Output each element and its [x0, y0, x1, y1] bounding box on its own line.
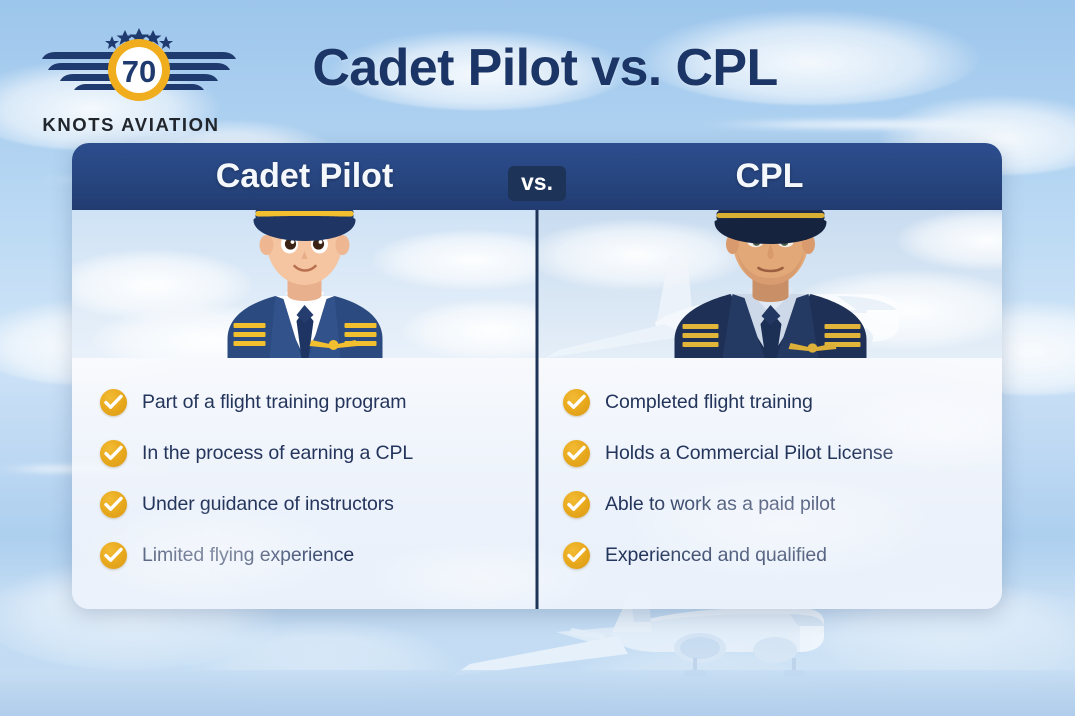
list-item-label: Part of a flight training program: [142, 391, 406, 414]
comparison-card: Part of a flight training program In the…: [72, 143, 1002, 609]
list-item-label: Completed flight training: [605, 391, 813, 414]
cadet-pilot-panel: [72, 210, 537, 358]
list-item-label: Under guidance of instructors: [142, 493, 394, 516]
list-item: Able to work as a paid pilot: [563, 482, 982, 526]
brand-name: KNOTS AVIATION: [26, 114, 236, 136]
brand-logo: 70 KNOTS AVIATION: [26, 22, 236, 137]
cpl-bullet-list: Completed flight training Holds a Commer…: [537, 358, 1002, 609]
vs-badge: vs.: [508, 166, 566, 201]
infographic-canvas: 70 KNOTS AVIATION Cadet Pilot vs. CPL: [0, 0, 1075, 716]
list-item: Completed flight training: [563, 380, 982, 424]
check-circle-icon: [563, 440, 590, 467]
list-item: Limited flying experience: [100, 533, 517, 577]
cpl-pilot-panel: [537, 210, 1002, 358]
list-item-label: Able to work as a paid pilot: [605, 493, 835, 516]
list-item: Under guidance of instructors: [100, 482, 517, 526]
list-item: Part of a flight training program: [100, 380, 517, 424]
check-circle-icon: [563, 491, 590, 518]
list-item: Experienced and qualified: [563, 533, 982, 577]
check-circle-icon: [100, 440, 127, 467]
check-circle-icon: [100, 542, 127, 569]
list-item-label: Limited flying experience: [142, 544, 354, 567]
column-heading-cpl: CPL: [537, 143, 1002, 210]
check-circle-icon: [563, 542, 590, 569]
check-circle-icon: [563, 389, 590, 416]
list-item-label: In the process of earning a CPL: [142, 442, 413, 465]
svg-text:70: 70: [122, 54, 156, 89]
cpl-pilot-photo: [652, 210, 887, 358]
check-circle-icon: [100, 389, 127, 416]
list-item-label: Holds a Commercial Pilot License: [605, 442, 893, 465]
column-divider: [536, 143, 539, 609]
list-item-label: Experienced and qualified: [605, 544, 827, 567]
cadet-pilot-bullet-list: Part of a flight training program In the…: [72, 358, 537, 609]
column-heading-cadet: Cadet Pilot: [72, 143, 537, 210]
list-item: In the process of earning a CPL: [100, 431, 517, 475]
list-item: Holds a Commercial Pilot License: [563, 431, 982, 475]
check-circle-icon: [100, 491, 127, 518]
cadet-pilot-illustration: [197, 210, 412, 358]
page-title: Cadet Pilot vs. CPL: [245, 38, 845, 98]
winged-badge-icon: 70: [26, 22, 236, 106]
